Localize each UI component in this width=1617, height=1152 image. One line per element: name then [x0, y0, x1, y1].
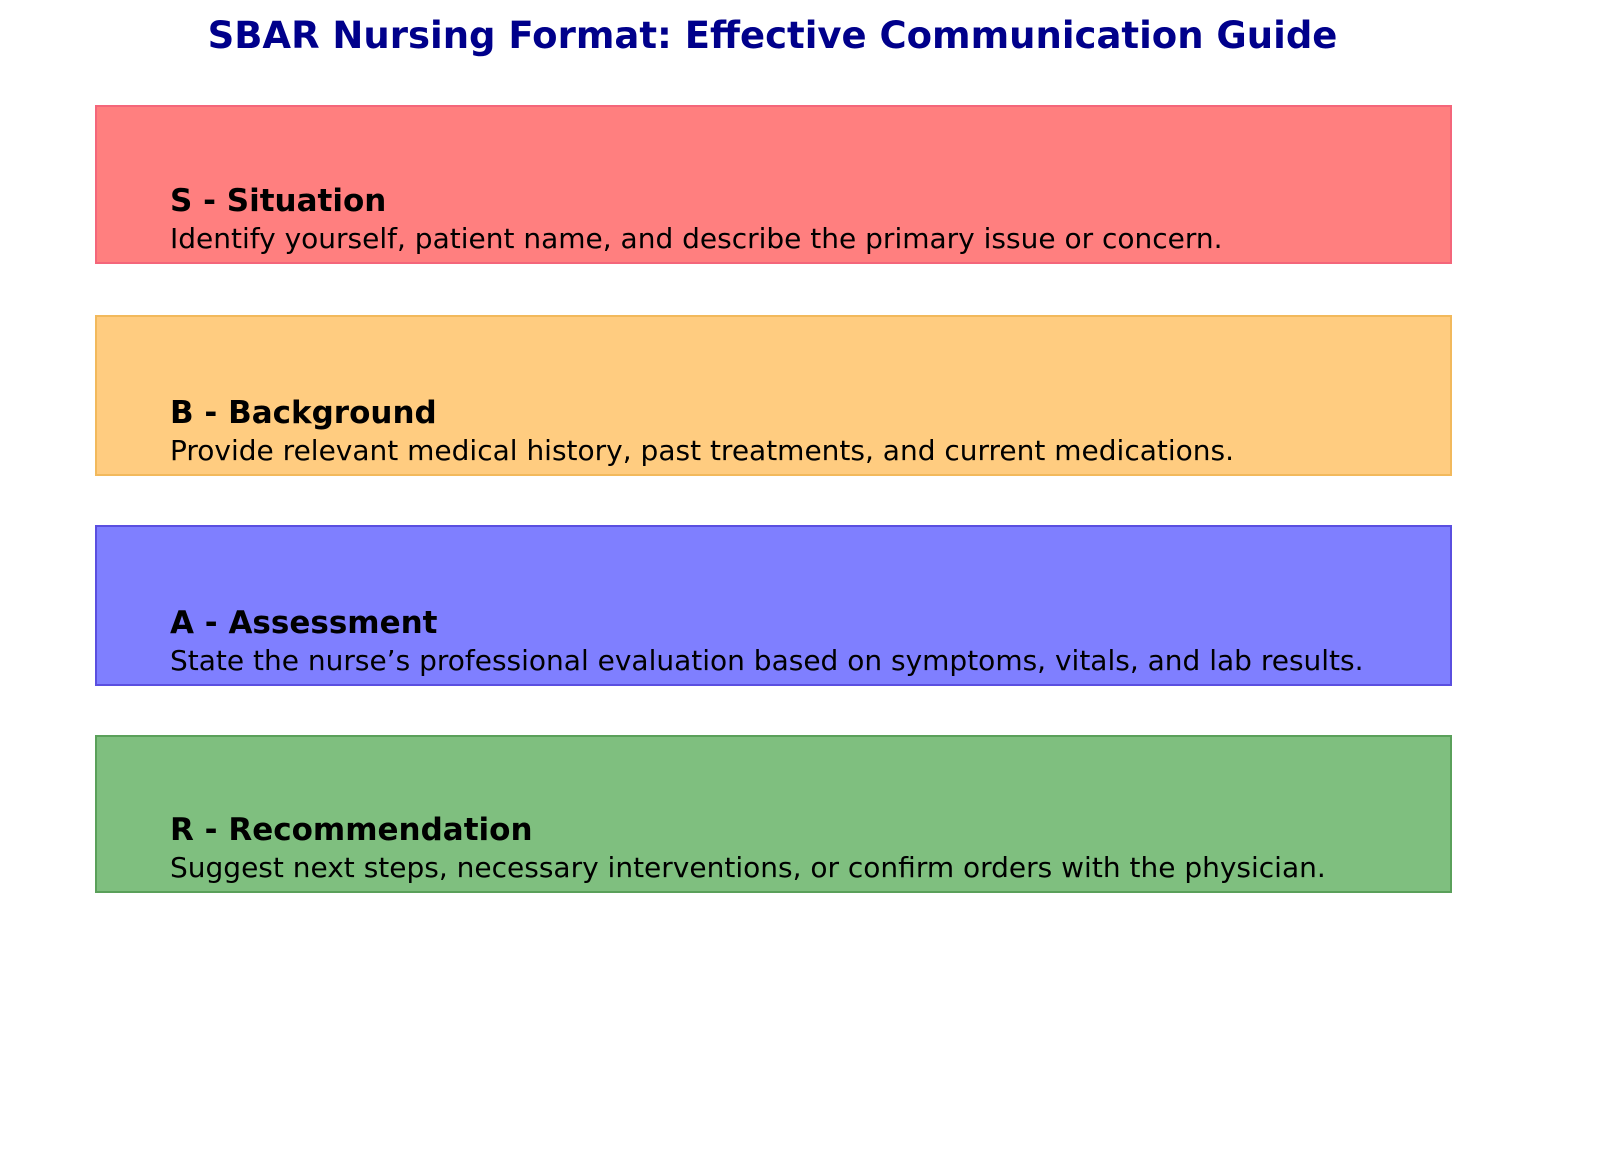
sbar-section-background: B - Background Provide relevant medical … — [95, 315, 1452, 476]
assessment-text-group: A - Assessment State the nurse’s profess… — [170, 605, 1617, 678]
background-label: B - Background — [170, 395, 1617, 433]
background-description: Provide relevant medical history, past t… — [170, 434, 1617, 468]
assessment-label: A - Assessment — [170, 605, 1617, 643]
situation-description: Identify yourself, patient name, and des… — [170, 222, 1617, 256]
sbar-section-assessment: A - Assessment State the nurse’s profess… — [95, 525, 1452, 686]
sbar-section-situation: S - Situation Identify yourself, patient… — [95, 105, 1452, 264]
recommendation-description: Suggest next steps, necessary interventi… — [170, 851, 1617, 885]
page-title: SBAR Nursing Format: Effective Communica… — [0, 14, 1545, 57]
recommendation-label: R - Recommendation — [170, 812, 1617, 850]
recommendation-text-group: R - Recommendation Suggest next steps, n… — [170, 812, 1617, 885]
assessment-description: State the nurse’s professional evaluatio… — [170, 644, 1617, 678]
situation-label: S - Situation — [170, 183, 1617, 221]
background-text-group: B - Background Provide relevant medical … — [170, 395, 1617, 468]
situation-text-group: S - Situation Identify yourself, patient… — [170, 183, 1617, 256]
sbar-section-recommendation: R - Recommendation Suggest next steps, n… — [95, 735, 1452, 893]
